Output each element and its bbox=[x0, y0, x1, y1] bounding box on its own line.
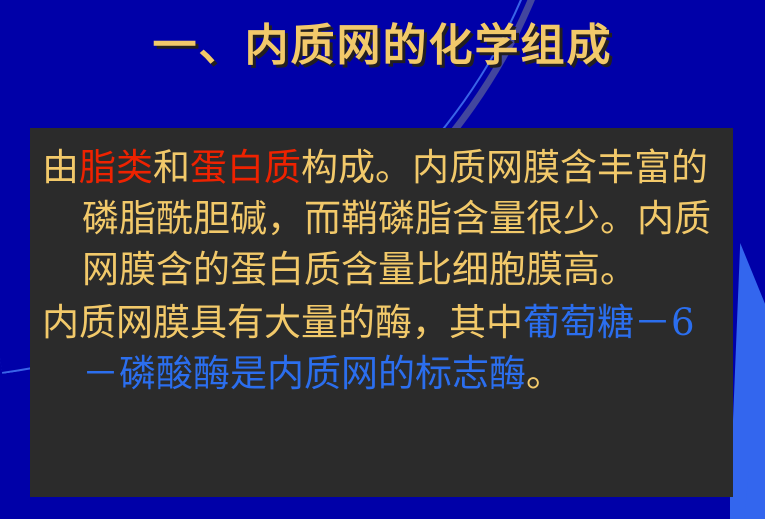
body-paragraph-2: 内质网膜具有大量的酶，其中葡萄糖－6－磷酸酶是内质网的标志酶。 bbox=[42, 297, 725, 399]
run-text: 由 bbox=[42, 146, 79, 189]
run-text: 。 bbox=[526, 352, 563, 395]
body-paragraph-1: 由脂类和蛋白质构成。内质网膜含丰富的磷脂酰胆碱，而鞘磷脂含量很少。内质网膜含的蛋… bbox=[42, 142, 725, 295]
run-text-highlight-red: 脂类 bbox=[79, 146, 153, 189]
run-text: 和 bbox=[153, 146, 190, 189]
slide-title: 一、内质网的化学组成 bbox=[0, 24, 765, 68]
background-bottom-bar bbox=[0, 495, 730, 519]
content-panel: 由脂类和蛋白质构成。内质网膜含丰富的磷脂酰胆碱，而鞘磷脂含量很少。内质网膜含的蛋… bbox=[30, 128, 733, 497]
slide-canvas: 一、内质网的化学组成 由脂类和蛋白质构成。内质网膜含丰富的磷脂酰胆碱，而鞘磷脂含… bbox=[0, 0, 765, 519]
run-text-highlight-red: 蛋白质 bbox=[190, 146, 301, 189]
run-text: 内质网膜具有大量的酶，其中 bbox=[42, 301, 523, 344]
